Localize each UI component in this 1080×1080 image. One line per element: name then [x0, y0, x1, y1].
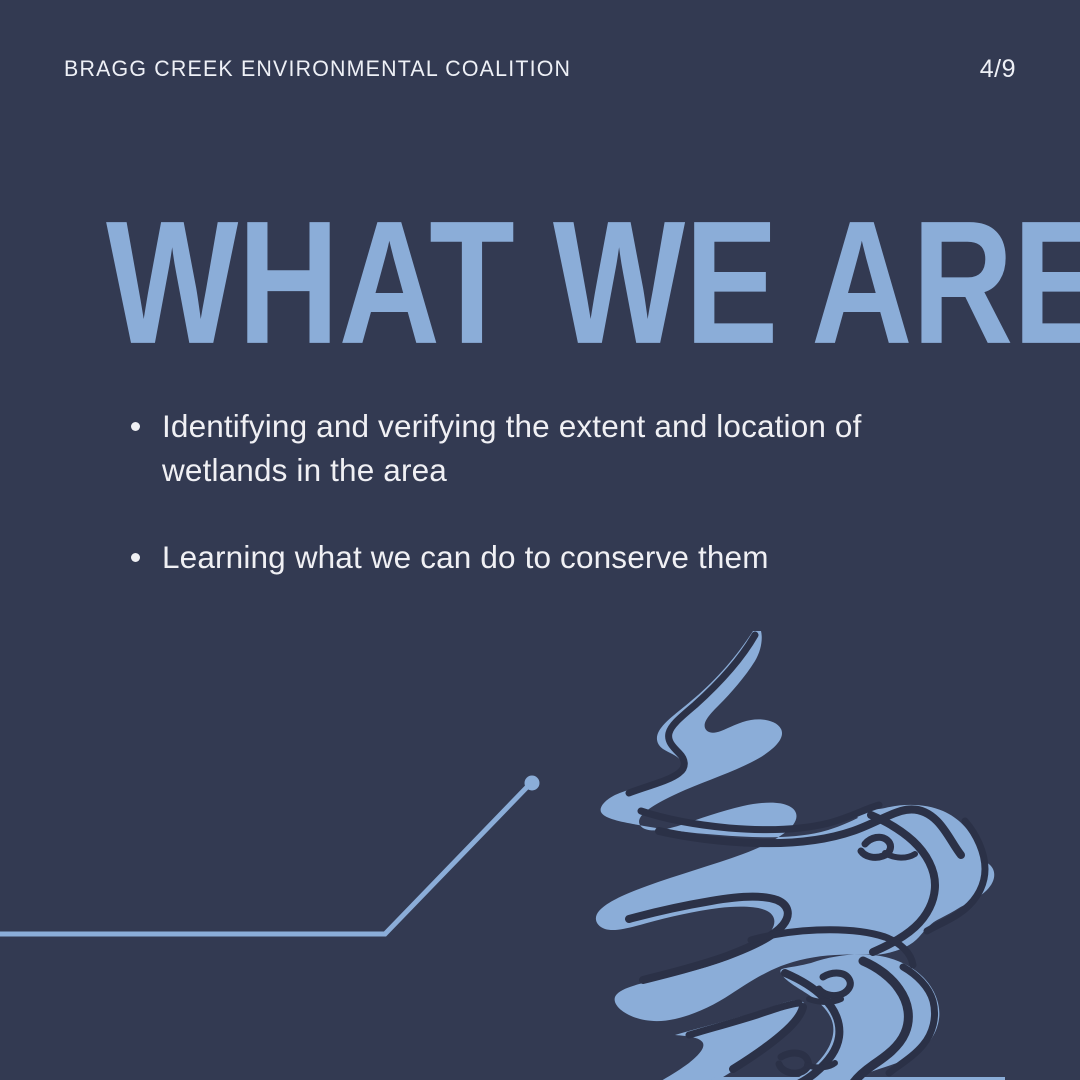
list-item-label: Learning what we can do to conserve them	[162, 539, 769, 575]
angled-line-with-endpoint-dot-icon	[0, 740, 560, 960]
meandering-creek-illustration-icon	[585, 625, 1015, 1080]
presentation-slide: BRAGG CREEK ENVIRONMENTAL COALITION 4/9 …	[0, 0, 1080, 1080]
list-item-label: Identifying and verifying the extent and…	[162, 408, 862, 488]
organization-name: BRAGG CREEK ENVIRONMENTAL COALITION	[64, 56, 571, 82]
bullet-dot-icon	[131, 553, 140, 562]
bullet-list: Identifying and verifying the extent and…	[126, 404, 976, 579]
list-item: Identifying and verifying the extent and…	[126, 404, 976, 492]
bullet-dot-icon	[131, 422, 140, 431]
page-title: WHAT WE ARE DOING	[106, 196, 823, 369]
page-indicator: 4/9	[980, 55, 1016, 84]
list-item: Learning what we can do to conserve them	[126, 535, 976, 579]
slide-header: BRAGG CREEK ENVIRONMENTAL COALITION 4/9	[64, 52, 1016, 86]
